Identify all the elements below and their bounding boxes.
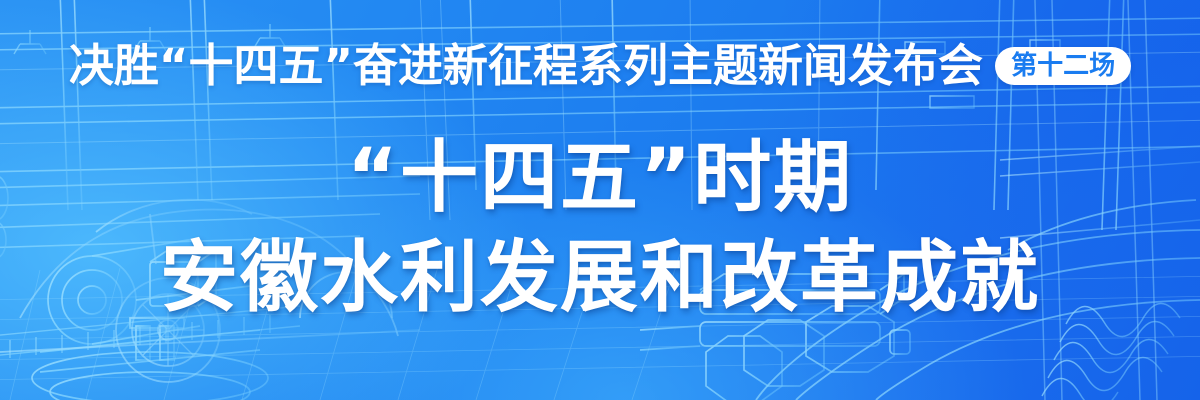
session-badge-label: 第十二场 xyxy=(1011,53,1115,79)
headline-text: 决胜“十四五”奋进新征程系列主题新闻发布会 xyxy=(69,40,983,92)
headline-row: 决胜“十四五”奋进新征程系列主题新闻发布会 第十二场 xyxy=(0,40,1200,92)
news-conference-banner: 决胜“十四五”奋进新征程系列主题新闻发布会 第十二场 “十四五”时期 安徽水利发… xyxy=(0,0,1200,400)
title-line-1: “十四五”时期 xyxy=(0,136,1200,220)
banner-text-block: 决胜“十四五”奋进新征程系列主题新闻发布会 第十二场 “十四五”时期 安徽水利发… xyxy=(0,0,1200,400)
session-badge: 第十二场 xyxy=(995,47,1131,85)
title-line-2: 安徽水利发展和改革成就 xyxy=(0,236,1200,320)
